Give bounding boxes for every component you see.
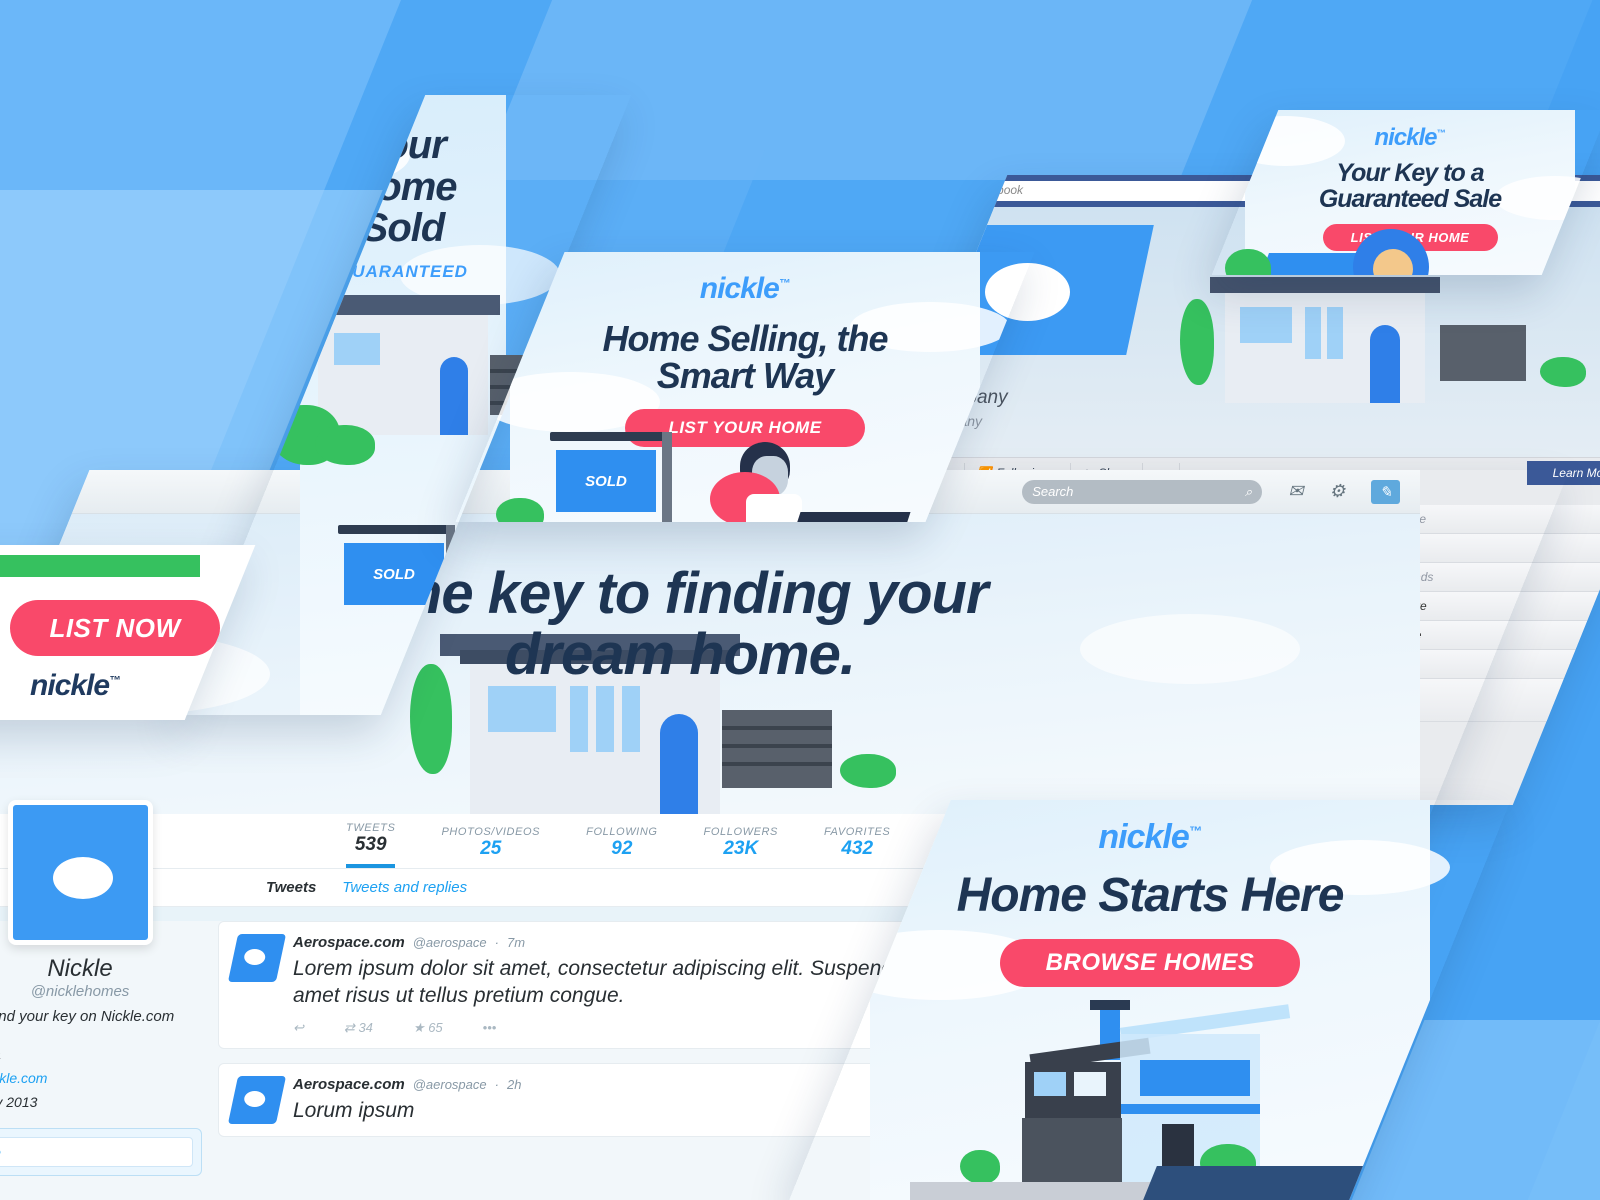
tab-tweets-and-replies[interactable]: Tweets and replies — [342, 879, 467, 896]
tweet-dot: · — [495, 935, 499, 950]
profile-website[interactable]: ww.nickle.com — [0, 1067, 202, 1091]
stat-tweets[interactable]: TWEETS 539 — [346, 822, 395, 868]
tweet-author: Aerospace.com — [293, 1076, 405, 1093]
tweet-handle: @aerospace — [413, 1077, 487, 1092]
tweet-dot: · — [495, 1077, 499, 1092]
nickle-logo: nickle™ — [1245, 124, 1575, 152]
twitter-profile-sidebar: Nickle @nicklehomes Find your key on Nic… — [0, 800, 220, 1200]
facebook-logo-icon: f — [890, 179, 914, 203]
profile-name: Nickle — [0, 955, 202, 983]
profile-footer-link[interactable]: know — [0, 1190, 202, 1200]
profile-handle: @nicklehomes — [0, 983, 202, 1000]
gear-icon[interactable]: ⚙ — [1329, 481, 1345, 502]
nickle-logo: nickle™ — [870, 818, 1430, 857]
retweet-icon: ⇄ — [344, 1020, 355, 1035]
sold-label: SOLD — [585, 473, 627, 490]
ad-headline-line2: Guaranteed Sale — [1245, 186, 1575, 212]
profile-joined: ed July 2013 — [0, 1091, 202, 1115]
browse-homes-button[interactable]: BROWSE HOMES — [1000, 939, 1300, 987]
stat-favorites[interactable]: FAVORITES 432 — [824, 826, 890, 868]
stat-following[interactable]: FOLLOWING 92 — [586, 826, 657, 868]
profile-location: Florida — [0, 1043, 202, 1067]
profile-avatar[interactable] — [7, 800, 152, 945]
favorite-action[interactable]: ★ 65 — [413, 1020, 443, 1036]
stat-followers[interactable]: FOLLOWERS 23K — [704, 826, 778, 868]
star-icon: ★ — [413, 1020, 425, 1035]
tab-tweets[interactable]: Tweets — [266, 879, 316, 896]
twitter-search-input[interactable]: Search ⌕ — [1022, 480, 1262, 504]
ad-headline: Home Starts Here — [870, 871, 1430, 921]
tweet-handle: @aerospace — [413, 935, 487, 950]
tweet-time: 7m — [507, 935, 525, 950]
nickle-logo: nickle™ — [510, 272, 980, 306]
ellipsis-icon[interactable]: ••• — [483, 1020, 497, 1035]
ad-headline-line1: Home Selling, the — [510, 320, 980, 357]
search-icon: ⌕ — [1245, 484, 1252, 500]
sold-label: SOLD — [373, 566, 415, 583]
profile-bio: Find your key on Nickle.com — [0, 1008, 202, 1025]
profile-meta: Florida ww.nickle.com ed July 2013 — [0, 1043, 202, 1114]
avatar — [228, 934, 286, 982]
list-now-button[interactable]: LIST NOW — [10, 600, 220, 656]
reply-icon[interactable]: ↩ — [293, 1020, 304, 1036]
mail-icon[interactable]: ✉ — [1288, 481, 1303, 502]
ad-headline-line1: Your Key to a — [1245, 160, 1575, 186]
compose-input[interactable]: ckle — [0, 1137, 193, 1167]
tweet-time: 2h — [507, 1077, 521, 1092]
avatar — [228, 1076, 286, 1124]
compose-icon[interactable]: ✎ — [1371, 480, 1400, 504]
stat-photos-videos[interactable]: PHOTOS/VIDEOS 25 — [441, 826, 540, 868]
ad-headline-line2: Smart Way — [510, 357, 980, 394]
retweet-action[interactable]: ⇄ 34 — [344, 1020, 373, 1036]
tweet-author: Aerospace.com — [293, 934, 405, 951]
presentation-canvas: f Search Facebook ompany mpany — [0, 0, 1600, 1200]
nickle-logo: nickle™ — [30, 669, 120, 703]
ad-guaranteed-sale: nickle™ Your Key to a Guaranteed Sale LI… — [1212, 110, 1600, 275]
compose-box: ckle — [0, 1128, 202, 1176]
